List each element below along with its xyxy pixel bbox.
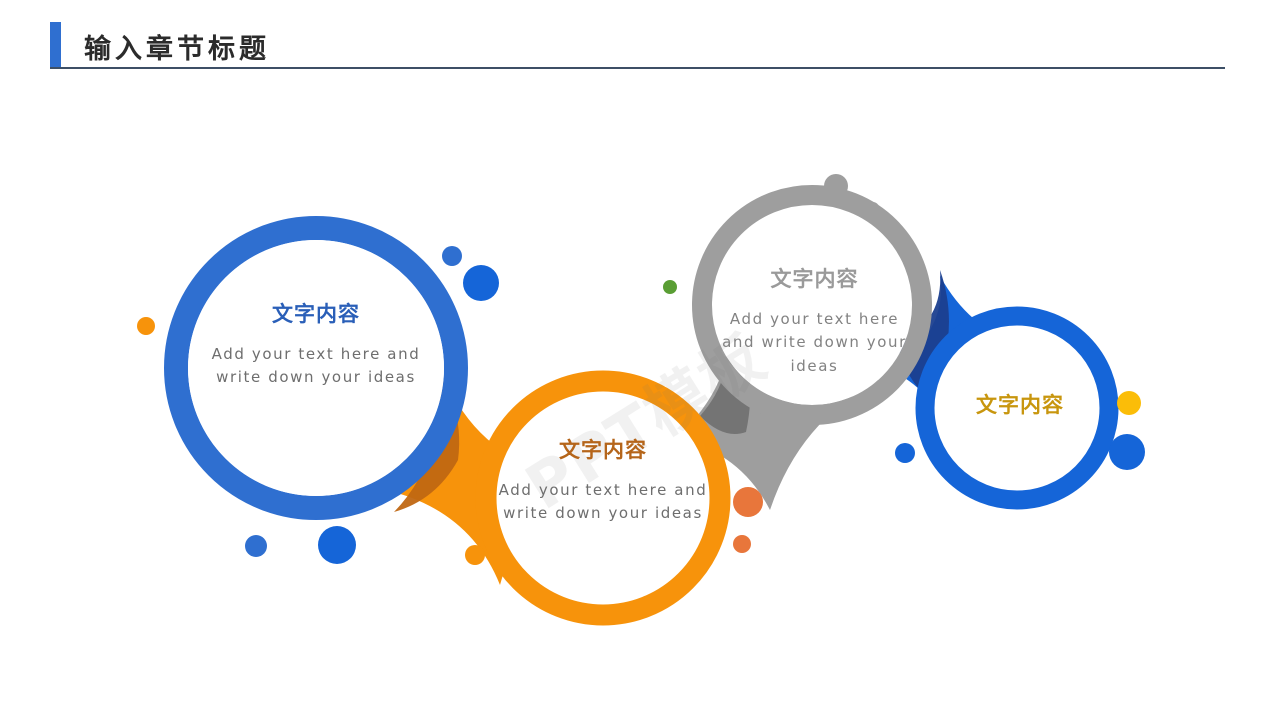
header-divider <box>50 67 1225 69</box>
dot-blue-small-bottom-icon <box>245 535 267 557</box>
node-2-disc <box>497 392 709 604</box>
slide-header: 输入章节标题 <box>0 0 1280 80</box>
dot-orange-bottom-icon <box>465 545 485 565</box>
dot-blue-large-bottom-icon <box>318 526 356 564</box>
dot-blue-large-top-icon <box>463 265 499 301</box>
node-3-disc <box>713 206 911 404</box>
dot-salmon-small-icon <box>733 535 751 553</box>
node-1-disc <box>188 240 444 496</box>
header-accent-bar <box>50 22 61 68</box>
dot-yellow-right-icon <box>1117 391 1141 415</box>
dot-green-icon <box>663 280 677 294</box>
slide-canvas: 输入章节标题 <box>0 0 1280 720</box>
dot-orange-left-icon <box>137 317 155 335</box>
dot-salmon-large-icon <box>733 487 763 517</box>
dot-blue-mid-right-icon <box>895 443 915 463</box>
node-4-disc <box>935 326 1099 490</box>
dot-gray-large-top-icon <box>824 174 848 198</box>
linked-circles-graphic <box>0 80 1280 720</box>
dot-blue-far-right-icon <box>1109 434 1145 470</box>
diagram-stage: PPT模板 文字内容 Add your text here and write … <box>0 80 1280 720</box>
dot-gray-small-top-icon <box>867 202 879 214</box>
dot-blue-small-top-icon <box>442 246 462 266</box>
page-title: 输入章节标题 <box>84 27 270 66</box>
